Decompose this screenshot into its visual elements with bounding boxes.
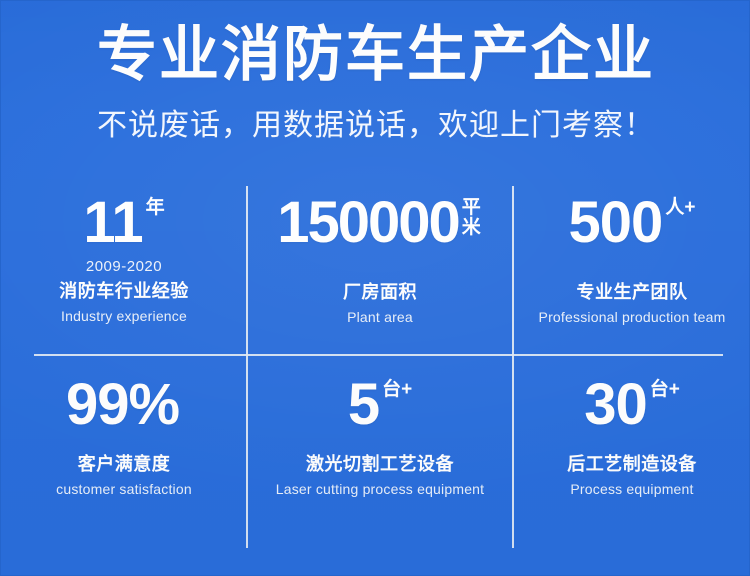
stat-label-cn: 专业生产团队: [577, 252, 688, 304]
stat-number: 11: [83, 195, 142, 252]
stat-number: 150000: [277, 195, 459, 252]
stat-unit: [179, 377, 182, 380]
stat-value-row: 11 年: [83, 195, 164, 252]
stat-number: 30: [584, 377, 647, 434]
stats-grid: 11 年 2009-2020 消防车行业经验 Industry experien…: [1, 181, 750, 561]
stat-label-en: customer satisfaction: [56, 476, 192, 497]
stat-unit: 年: [143, 195, 165, 217]
stat-cell-industry-experience: 11 年 2009-2020 消防车行业经验 Industry experien…: [1, 181, 247, 355]
stat-label-cn: 激光切割工艺设备: [306, 434, 454, 476]
stat-cell-customer-satisfaction: 99% 客户满意度 customer satisfaction: [1, 355, 247, 535]
stat-cell-process-equipment: 30 台+ 后工艺制造设备 Process equipment: [513, 355, 750, 535]
stat-label-en: Professional production team: [539, 304, 726, 325]
stat-number: 99%: [66, 377, 179, 434]
banner-header: 专业消防车生产企业 不说废话，用数据说话，欢迎上门考察！: [1, 1, 750, 141]
stat-unit: 人+: [662, 195, 695, 217]
stat-value-row: 30 台+: [584, 377, 680, 434]
stat-cell-laser-cutting-equipment: 5 台+ 激光切割工艺设备 Laser cutting process equi…: [247, 355, 513, 535]
stat-label-en: Process equipment: [570, 476, 693, 497]
stat-value-row: 500 人+: [569, 195, 696, 252]
stat-number: 500: [569, 195, 663, 252]
stat-label-cn: 后工艺制造设备: [567, 434, 697, 476]
stat-unit: 台+: [647, 377, 680, 399]
stat-label-cn: 客户满意度: [78, 434, 171, 476]
stat-label-cn: 厂房面积: [343, 252, 417, 304]
stat-value-row: 99%: [66, 377, 182, 434]
stat-value-row: 5 台+: [348, 377, 412, 434]
stat-number: 5: [348, 377, 379, 434]
stat-unit: 台+: [379, 377, 412, 399]
stat-cell-plant-area: 150000 平米 厂房面积 Plant area: [247, 181, 513, 355]
promo-banner: 专业消防车生产企业 不说废话，用数据说话，欢迎上门考察！ 11 年 2009-2…: [0, 0, 750, 576]
stat-label-cn: 消防车行业经验: [59, 275, 189, 303]
stat-cell-production-team: 500 人+ 专业生产团队 Professional production te…: [513, 181, 750, 355]
stat-unit: 平米: [459, 195, 483, 238]
page-subtitle: 不说废话，用数据说话，欢迎上门考察！: [1, 85, 750, 141]
stat-range: 2009-2020: [86, 252, 162, 275]
stat-value-row: 150000 平米: [277, 195, 483, 252]
stat-label-en: Laser cutting process equipment: [276, 476, 485, 497]
page-title: 专业消防车生产企业: [1, 25, 750, 85]
stat-label-en: Plant area: [347, 304, 413, 325]
stat-label-en: Industry experience: [61, 303, 187, 324]
